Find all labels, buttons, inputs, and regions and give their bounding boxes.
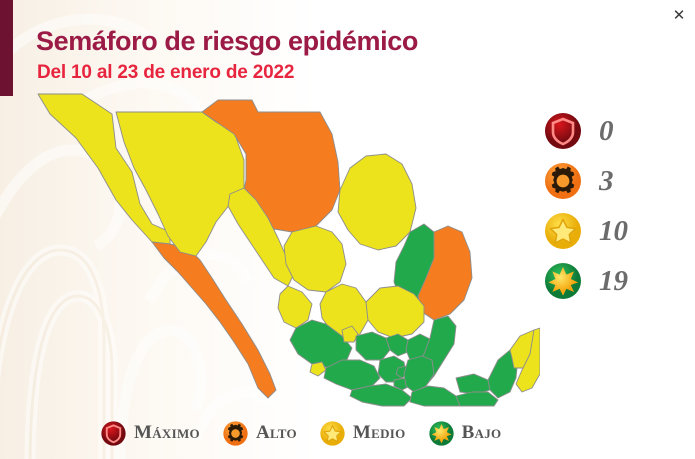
state-baja-california-sur[interactable] [152,242,276,398]
legend-item-bajo[interactable]: Bajo [428,420,502,447]
count-value-medio: 10 [599,215,628,248]
legend-label-maximo: Máximo [134,422,200,444]
state-chiapas[interactable] [456,392,498,406]
semaforo-panel: ✕ Semáforo de riesgo epidémico Del 10 al… [0,0,695,459]
gear-badge-icon [222,420,249,447]
accent-bar [0,0,13,96]
legend-item-alto[interactable]: Alto [222,420,297,447]
star-badge-icon [319,420,346,447]
page-subtitle: Del 10 al 23 de enero de 2022 [37,62,294,84]
star-badge-icon [543,211,583,251]
state-durango[interactable] [284,226,346,292]
shield-badge-icon [100,420,127,447]
count-row-alto: 3 [543,156,683,206]
mexico-risk-map [20,92,540,407]
risk-counts-panel: 0 3 10 [543,106,683,306]
page-title: Semáforo de riesgo epidémico [36,26,418,57]
state-queretaro[interactable] [386,334,408,356]
state-nayarit[interactable] [278,286,312,328]
count-row-maximo: 0 [543,106,683,156]
count-row-medio: 10 [543,206,683,256]
legend-item-maximo[interactable]: Máximo [100,420,200,447]
gear-badge-icon [543,161,583,201]
legend-label-medio: Medio [353,422,406,444]
count-value-maximo: 0 [599,115,614,148]
shield-badge-icon [543,111,583,151]
risk-legend: Máximo Alto Medio Bajo [100,413,660,453]
legend-item-medio[interactable]: Medio [319,420,406,447]
sunburst-badge-icon [543,261,583,301]
count-row-bajo: 19 [543,256,683,306]
close-icon[interactable]: ✕ [668,4,690,26]
state-tabasco[interactable] [456,374,490,394]
count-value-alto: 3 [599,165,614,198]
state-coahuila[interactable] [338,154,416,250]
count-value-bajo: 19 [599,265,628,298]
legend-label-bajo: Bajo [462,422,502,444]
legend-label-alto: Alto [256,422,297,444]
sunburst-badge-icon [428,420,455,447]
state-guanajuato[interactable] [356,332,390,360]
